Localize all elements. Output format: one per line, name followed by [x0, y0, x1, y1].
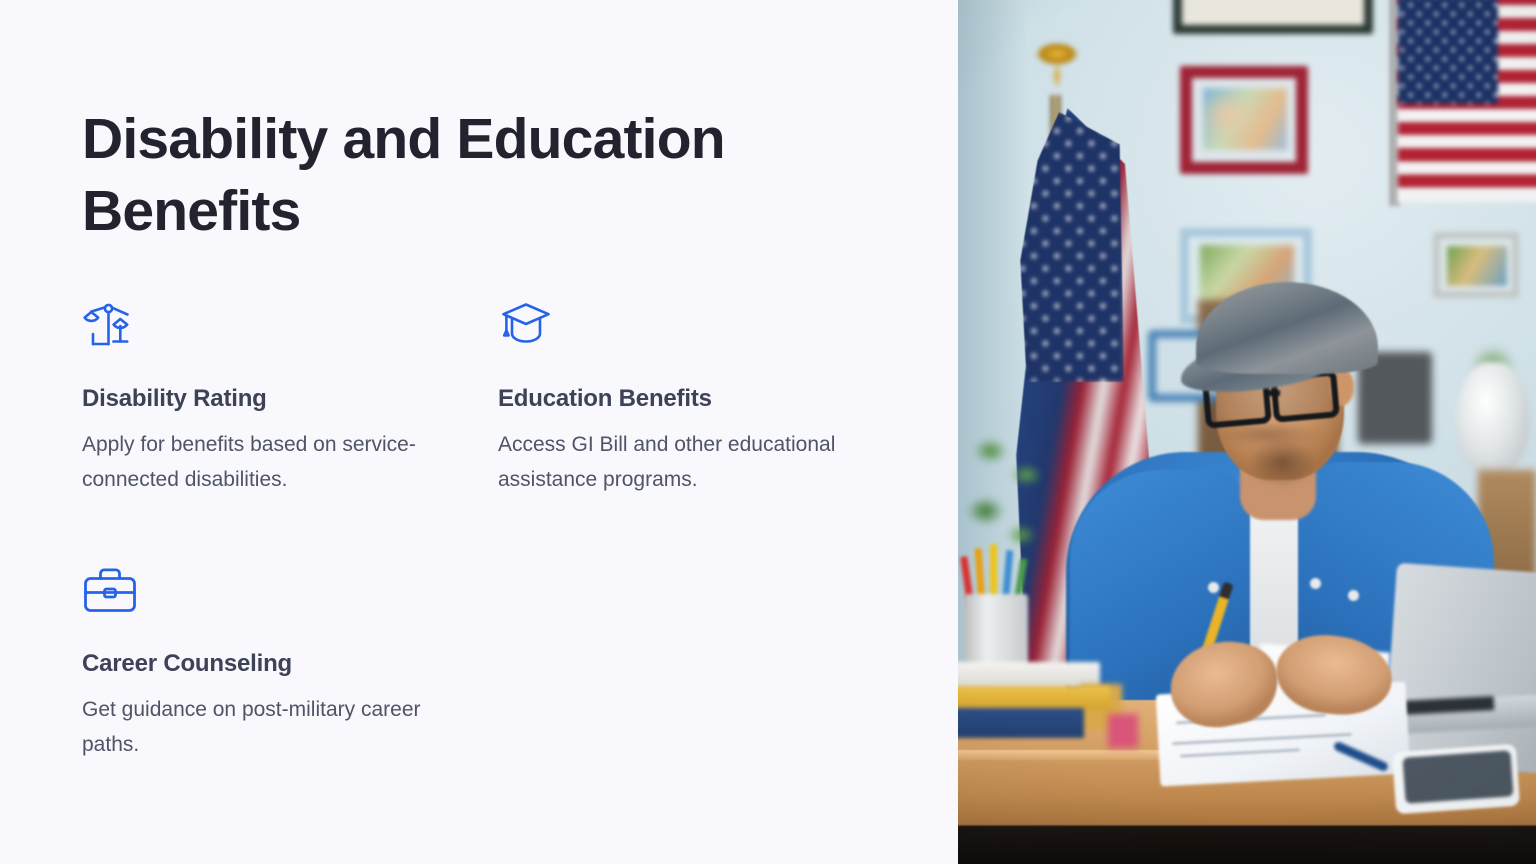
feature-title: Career Counseling — [82, 650, 482, 678]
hero-photo — [958, 0, 1536, 864]
page-title: Disability and Education Benefits — [82, 104, 842, 248]
feature-description: Apply for benefits based on service-conn… — [82, 427, 474, 498]
feature-card-disability-rating[interactable]: Disability Rating Apply for benefits bas… — [82, 300, 482, 498]
potted-plant — [958, 418, 1072, 568]
bookmark — [1108, 714, 1138, 748]
white-vase — [1456, 362, 1530, 474]
smartphone-screen — [1403, 750, 1514, 803]
book — [958, 662, 1100, 688]
eyeglasses-bridge — [1266, 390, 1280, 396]
framed-photo-image — [1447, 246, 1507, 286]
feature-card-career-counseling[interactable]: Career Counseling Get guidance on post-m… — [82, 565, 482, 763]
shirt-button — [1208, 582, 1219, 593]
shirt-button — [1310, 578, 1321, 589]
feature-card-education-benefits[interactable]: Education Benefits Access GI Bill and ot… — [498, 300, 898, 498]
feature-title: Education Benefits — [498, 385, 898, 413]
feature-description: Access GI Bill and other educational ass… — [498, 427, 890, 498]
feature-description: Get guidance on post-military career pat… — [82, 692, 434, 763]
features-grid: Disability Rating Apply for benefits bas… — [82, 300, 958, 763]
flag-canton — [1398, 0, 1498, 104]
gold-eagle-finial — [1034, 36, 1080, 100]
graduation-cap-icon — [498, 300, 554, 352]
feature-title: Disability Rating — [82, 385, 482, 413]
photo-scene — [958, 0, 1536, 864]
content-pane: Disability and Education Benefits — [0, 0, 958, 864]
shirt-button — [1348, 590, 1359, 601]
beard — [1244, 440, 1320, 490]
briefcase-icon — [82, 565, 138, 617]
framed-wall-photo-top — [1173, 0, 1373, 34]
framed-photo-image — [1203, 88, 1287, 150]
book — [958, 708, 1084, 738]
scales-balance-icon — [82, 300, 138, 352]
slide-root: Disability and Education Benefits — [0, 0, 1536, 864]
book — [958, 686, 1110, 710]
